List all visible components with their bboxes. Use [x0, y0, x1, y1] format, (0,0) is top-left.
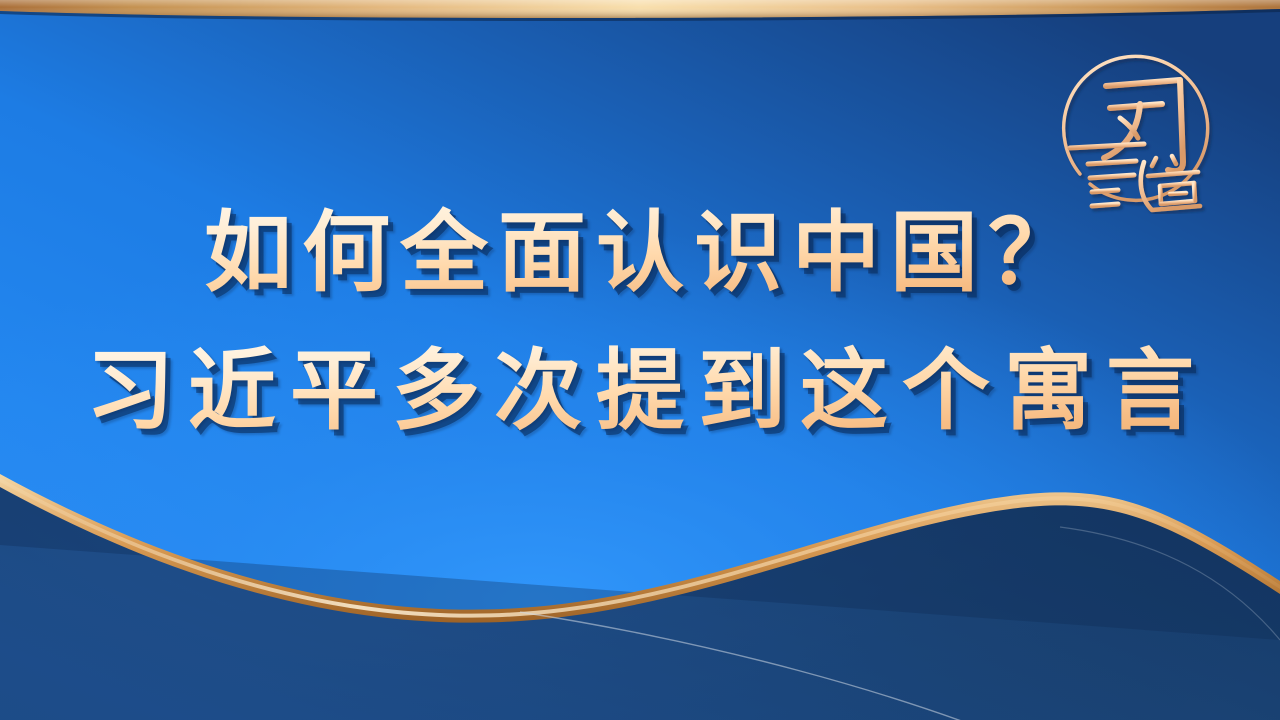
headline-line-2: 习近平多次提到这个寓言: [0, 334, 1280, 446]
xi-yan-dao-logo: [1048, 42, 1234, 214]
poster-canvas: 如何全面认识中国？ 习近平多次提到这个寓言: [0, 0, 1280, 720]
headline-block: 如何全面认识中国？ 习近平多次提到这个寓言: [0, 196, 1280, 446]
headline-line-1: 如何全面认识中国？: [0, 196, 1280, 308]
top-gold-band: [0, 0, 1280, 22]
